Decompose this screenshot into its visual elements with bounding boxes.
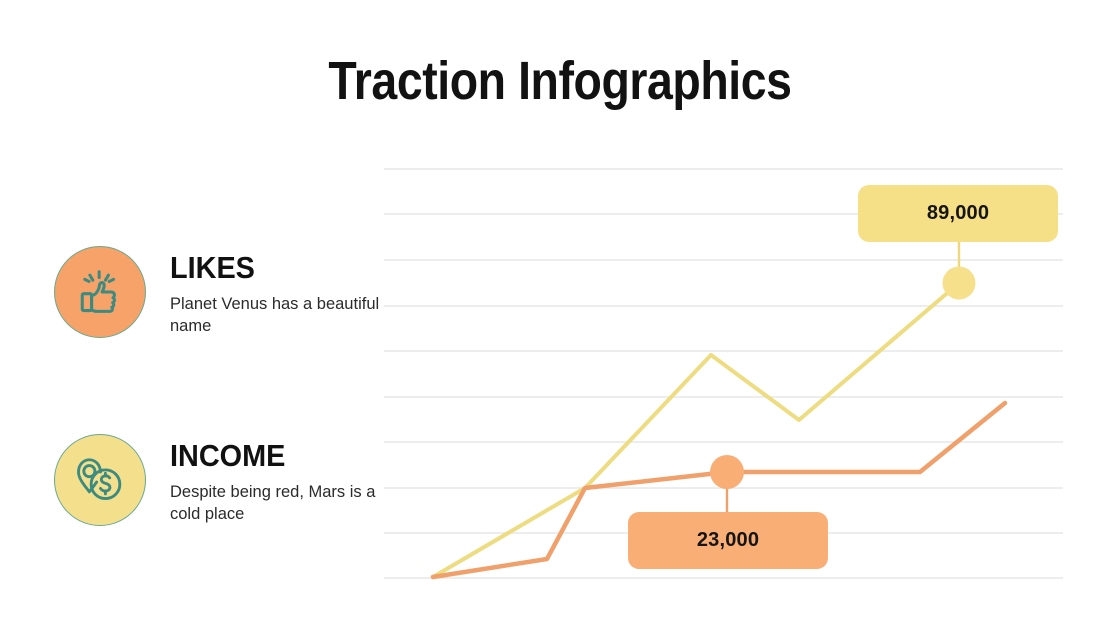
- slide-canvas: Traction Infographics 89,000: [0, 0, 1120, 630]
- data-label-income-value: 23,000: [697, 529, 759, 552]
- legend-badge-income: [54, 434, 146, 526]
- data-label-likes[interactable]: 89,000: [858, 185, 1058, 242]
- legend-description-likes: Planet Venus has a beautiful name: [170, 294, 385, 338]
- money-pin-icon: [73, 453, 127, 507]
- legend-badge-likes: [54, 246, 146, 338]
- legend-heading-income: INCOME: [170, 440, 370, 471]
- data-point-marker-likes[interactable]: [943, 267, 976, 300]
- thumbs-up-icon: [73, 265, 127, 319]
- legend-text-likes: LIKES Planet Venus has a beautiful name: [170, 246, 385, 338]
- legend-item-likes[interactable]: LIKES Planet Venus has a beautiful name: [54, 246, 385, 338]
- legend-heading-likes: LIKES: [170, 252, 370, 283]
- legend-description-income: Despite being red, Mars is a cold place: [170, 482, 385, 526]
- data-label-likes-value: 89,000: [927, 202, 989, 225]
- data-point-marker-income[interactable]: [710, 455, 744, 489]
- legend-text-income: INCOME Despite being red, Mars is a cold…: [170, 434, 385, 526]
- data-label-income[interactable]: 23,000: [628, 512, 828, 569]
- legend-item-income[interactable]: INCOME Despite being red, Mars is a cold…: [54, 434, 385, 526]
